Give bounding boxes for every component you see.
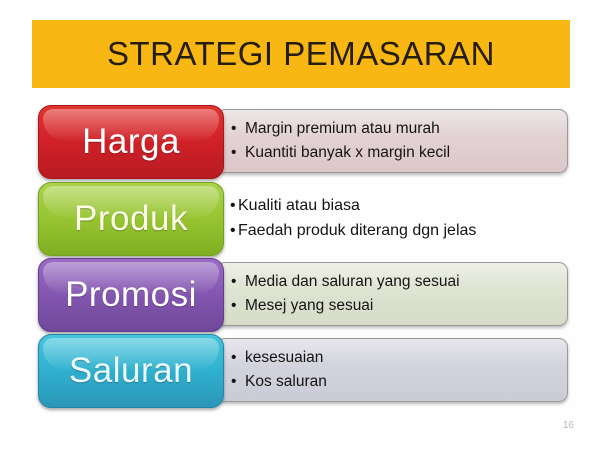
strategy-row-produk: • Kualiti atau biasa • Faedah produk dit… — [0, 180, 600, 256]
bullet-item: • kesesuaian — [231, 346, 557, 370]
detail-panel-harga: • Margin premium atau murah • Kuantiti b… — [216, 109, 568, 173]
strategy-row-promosi: • Media dan saluran yang sesuai • Mesej … — [0, 256, 600, 332]
page-title: STRATEGI PEMASARAN — [107, 35, 495, 73]
bullet-text: Mesej yang sesuai — [245, 294, 373, 318]
bullet-dot-icon: • — [231, 141, 245, 165]
bullet-item: • Kualiti atau biasa — [230, 193, 558, 218]
slide-canvas: STRATEGI PEMASARAN • Margin premium atau… — [0, 0, 600, 449]
bullet-dot-icon: • — [231, 370, 245, 394]
bullet-text: kesesuaian — [245, 346, 323, 370]
bullet-dot-icon: • — [231, 270, 245, 294]
bullet-text: Media dan saluran yang sesuai — [245, 270, 460, 294]
bullet-dot-icon: • — [230, 218, 238, 243]
detail-panel-saluran: • kesesuaian • Kos saluran — [216, 338, 568, 402]
bullet-dot-icon: • — [231, 346, 245, 370]
bullet-item: • Mesej yang sesuai — [231, 294, 557, 318]
bullet-text: Kuantiti banyak x margin kecil — [245, 141, 450, 165]
detail-panel-produk: • Kualiti atau biasa • Faedah produk dit… — [216, 186, 568, 250]
bullet-item: • Faedah produk diterang dgn jelas — [230, 218, 558, 243]
bullet-dot-icon: • — [231, 294, 245, 318]
slide-title-banner: STRATEGI PEMASARAN — [32, 20, 570, 88]
category-label: Saluran — [69, 351, 193, 391]
bullet-dot-icon: • — [231, 117, 245, 141]
category-label: Produk — [74, 199, 188, 239]
bullet-text: Faedah produk diterang dgn jelas — [238, 218, 476, 243]
strategy-row-saluran: • kesesuaian • Kos saluran Saluran — [0, 332, 600, 408]
category-box-harga[interactable]: Harga — [38, 105, 224, 179]
category-box-saluran[interactable]: Saluran — [38, 334, 224, 408]
page-number: 16 — [563, 420, 574, 431]
category-label: Harga — [82, 122, 180, 162]
bullet-text: Kos saluran — [245, 370, 327, 394]
category-box-promosi[interactable]: Promosi — [38, 258, 224, 332]
bullet-item: • Media dan saluran yang sesuai — [231, 270, 557, 294]
bullet-text: Kualiti atau biasa — [238, 193, 360, 218]
bullet-item: • Kos saluran — [231, 370, 557, 394]
bullet-item: • Kuantiti banyak x margin kecil — [231, 141, 557, 165]
category-label: Promosi — [65, 275, 197, 315]
bullet-text: Margin premium atau murah — [245, 117, 440, 141]
strategy-row-harga: • Margin premium atau murah • Kuantiti b… — [0, 103, 600, 179]
bullet-dot-icon: • — [230, 193, 238, 218]
detail-panel-promosi: • Media dan saluran yang sesuai • Mesej … — [216, 262, 568, 326]
bullet-item: • Margin premium atau murah — [231, 117, 557, 141]
category-box-produk[interactable]: Produk — [38, 182, 224, 256]
